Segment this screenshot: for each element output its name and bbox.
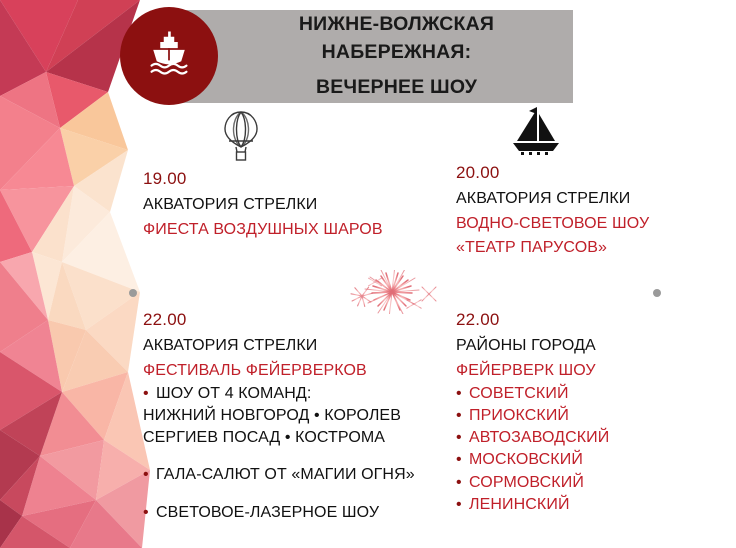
list-item: ПРИОКСКИЙ <box>456 405 731 427</box>
block-top-left: 19.00 АКВАТОРИЯ СТРЕЛКИ ФИЕСТА ВОЗДУШНЫХ… <box>143 166 448 242</box>
bottom-left-event: ФЕСТИВАЛЬ ФЕЙЕРВЕРКОВ <box>143 359 448 383</box>
list-item: ШОУ ОТ 4 КОМАНД: <box>143 383 448 405</box>
bottom-right-place: РАЙОНЫ ГОРОДА <box>456 333 731 359</box>
list-item: НИЖНИЙ НОВГОРОД • КОРОЛЕВ <box>143 405 448 427</box>
list-item: СВЕТОВОЕ-ЛАЗЕРНОЕ ШОУ <box>143 502 448 524</box>
top-left-event: ФИЕСТА ВОЗДУШНЫХ ШАРОВ <box>143 218 448 242</box>
bottom-right-time: 22.00 <box>456 307 731 333</box>
block-bottom-left: 22.00 АКВАТОРИЯ СТРЕЛКИ ФЕСТИВАЛЬ ФЕЙЕРВ… <box>143 307 448 524</box>
top-right-time: 20.00 <box>456 160 731 186</box>
list-item: ГАЛА-САЛЮТ ОТ «МАГИИ ОГНЯ» <box>143 464 448 486</box>
bottom-left-list: ШОУ ОТ 4 КОМАНД: НИЖНИЙ НОВГОРОД • КОРОЛ… <box>143 383 448 523</box>
ship-icon <box>141 28 197 84</box>
list-item: СОВЕТСКИЙ <box>456 383 731 405</box>
sailboat-icon <box>508 105 564 157</box>
header-subtitle: ВЕЧЕРНЕЕ ШОУ <box>316 74 477 102</box>
top-left-place: АКВАТОРИЯ СТРЕЛКИ <box>143 192 448 218</box>
header-title-line2: НАБЕРЕЖНАЯ: <box>322 39 472 67</box>
list-item: ЛЕНИНСКИЙ <box>456 494 731 516</box>
bottom-left-time: 22.00 <box>143 307 448 333</box>
header-title-line1: НИЖНЕ-ВОЛЖСКАЯ <box>299 11 494 39</box>
list-item: СЕРГИЕВ ПОСАД • КОСТРОМА <box>143 427 448 449</box>
block-top-right: 20.00 АКВАТОРИЯ СТРЕЛКИ ВОДНО-СВЕТОВОЕ Ш… <box>456 160 731 260</box>
top-right-event-line1: ВОДНО-СВЕТОВОЕ ШОУ <box>456 212 731 236</box>
list-item: СОРМОВСКИЙ <box>456 472 731 494</box>
top-right-event-line2: «ТЕАТР ПАРУСОВ» <box>456 236 731 260</box>
list-item: МОСКОВСКИЙ <box>456 449 731 471</box>
hot-air-balloon-icon <box>222 110 260 162</box>
top-left-time: 19.00 <box>143 166 448 192</box>
bottom-right-event: ФЕЙЕРВЕРК ШОУ <box>456 359 731 383</box>
poster-slide: НИЖНЕ-ВОЛЖСКАЯ НАБЕРЕЖНАЯ: ВЕЧЕРНЕЕ ШОУ <box>0 0 736 548</box>
block-bottom-right: 22.00 РАЙОНЫ ГОРОДА ФЕЙЕРВЕРК ШОУ СОВЕТС… <box>456 307 731 516</box>
header-banner: НИЖНЕ-ВОЛЖСКАЯ НАБЕРЕЖНАЯ: ВЕЧЕРНЕЕ ШОУ <box>178 10 573 103</box>
list-item: АВТОЗАВОДСКИЙ <box>456 427 731 449</box>
bottom-left-place: АКВАТОРИЯ СТРЕЛКИ <box>143 333 448 359</box>
ship-badge <box>120 7 218 105</box>
top-right-place: АКВАТОРИЯ СТРЕЛКИ <box>456 186 731 212</box>
bottom-right-list: СОВЕТСКИЙ ПРИОКСКИЙ АВТОЗАВОДСКИЙ МОСКОВ… <box>456 383 731 515</box>
